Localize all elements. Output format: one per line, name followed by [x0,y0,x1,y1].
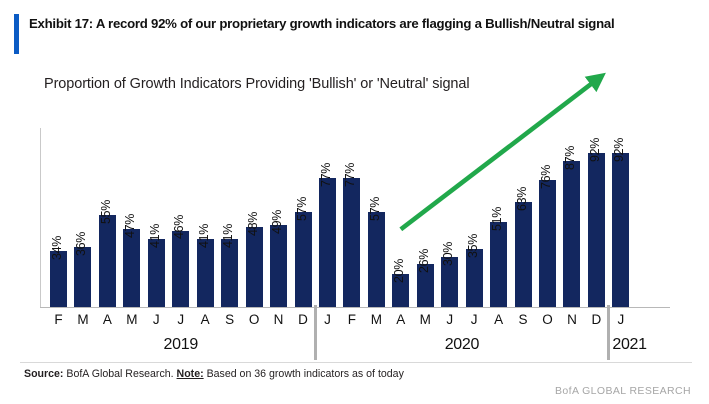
bar [343,178,360,308]
bar [246,227,263,308]
note-label: Note: [177,368,204,380]
bar [295,212,312,308]
bar [612,153,629,308]
x-axis-month-label: O [536,312,560,327]
exhibit-chart-panel: Exhibit 17: A record 92% of our propriet… [0,0,709,404]
x-axis-month-label: F [47,312,71,327]
bar [99,215,116,308]
x-axis-month-label: O [242,312,266,327]
bar-value-label: 77% [343,163,357,187]
note-value: Based on 36 growth indicators as of toda… [207,368,404,380]
bar-value-label: 41% [197,224,211,248]
bar [588,153,605,308]
bar-value-label: 87% [563,146,577,170]
bar-value-label: 20% [392,259,406,283]
x-axis-month-label: A [389,312,413,327]
bar [172,231,189,309]
watermark: BofA GLOBAL RESEARCH [555,385,691,397]
bar-value-label: 26% [417,249,431,273]
bar [74,247,91,308]
bar-value-label: 63% [515,187,529,211]
bar-value-label: 46% [172,215,186,239]
bar-value-label: 34% [50,236,64,260]
bar-value-label: 55% [99,200,113,224]
bar [515,202,532,308]
bar [368,212,385,308]
x-axis-month-label: A [193,312,217,327]
bar-value-label: 35% [466,234,480,258]
exhibit-title-block: Exhibit 17: A record 92% of our propriet… [14,14,694,54]
x-axis-year-label: 2019 [50,336,312,354]
page-title: Exhibit 17: A record 92% of our propriet… [29,14,614,33]
bar [123,229,140,308]
x-axis-month-label: J [438,312,462,327]
bar-value-label: 51% [490,207,504,231]
source-label: Source: [24,368,63,380]
x-axis-month-label: J [462,312,486,327]
x-axis-month-label: D [584,312,608,327]
x-axis-line [40,307,670,308]
bar-value-label: 57% [295,197,309,221]
x-axis-month-label: N [560,312,584,327]
x-axis-month-label: M [120,312,144,327]
bar-value-label: 48% [246,212,260,236]
x-axis-month-label: F [340,312,364,327]
x-axis-year-label: 2021 [612,336,629,354]
bar-value-label: 30% [441,242,455,266]
x-axis-month-label: S [511,312,535,327]
footer-divider [20,362,692,363]
bar-value-label: 57% [368,197,382,221]
x-axis-year-label: 2020 [319,336,605,354]
x-axis-month-label: M [71,312,95,327]
x-axis-month-label: M [364,312,388,327]
x-axis-month-label: D [291,312,315,327]
bar-value-label: 41% [148,224,162,248]
year-separator [314,305,317,360]
x-axis-month-label: A [487,312,511,327]
x-axis-month-label: A [95,312,119,327]
bar-value-label: 47% [123,214,137,238]
bar-value-label: 41% [221,224,235,248]
bar-value-label: 92% [612,138,626,162]
year-separator [607,305,610,360]
x-axis-month-label: N [267,312,291,327]
bar [197,239,214,308]
bar-value-label: 36% [74,232,88,256]
source-value: BofA Global Research. [66,368,173,380]
bar [490,222,507,308]
bar [270,225,287,308]
source-note: Source: BofA Global Research. Note: Base… [24,368,404,380]
x-axis-month-label: J [169,312,193,327]
bar-value-label: 49% [270,210,284,234]
bar-value-label: 77% [319,163,333,187]
bar [148,239,165,308]
bar [539,180,556,308]
bar-value-label: 76% [539,165,553,189]
bar [319,178,336,308]
bar [563,161,580,308]
bar [221,239,238,308]
x-axis-month-label: J [315,312,339,327]
plot-area: 34%36%55%47%41%46%41%41%48%49%57%77%77%5… [40,60,670,308]
x-axis-month-label: J [144,312,168,327]
x-axis-month-label: S [218,312,242,327]
title-accent-bar [14,14,19,54]
x-axis-month-label: M [413,312,437,327]
y-axis-line [40,128,41,308]
x-axis-month-label: J [609,312,633,327]
bar-value-label: 92% [588,138,602,162]
